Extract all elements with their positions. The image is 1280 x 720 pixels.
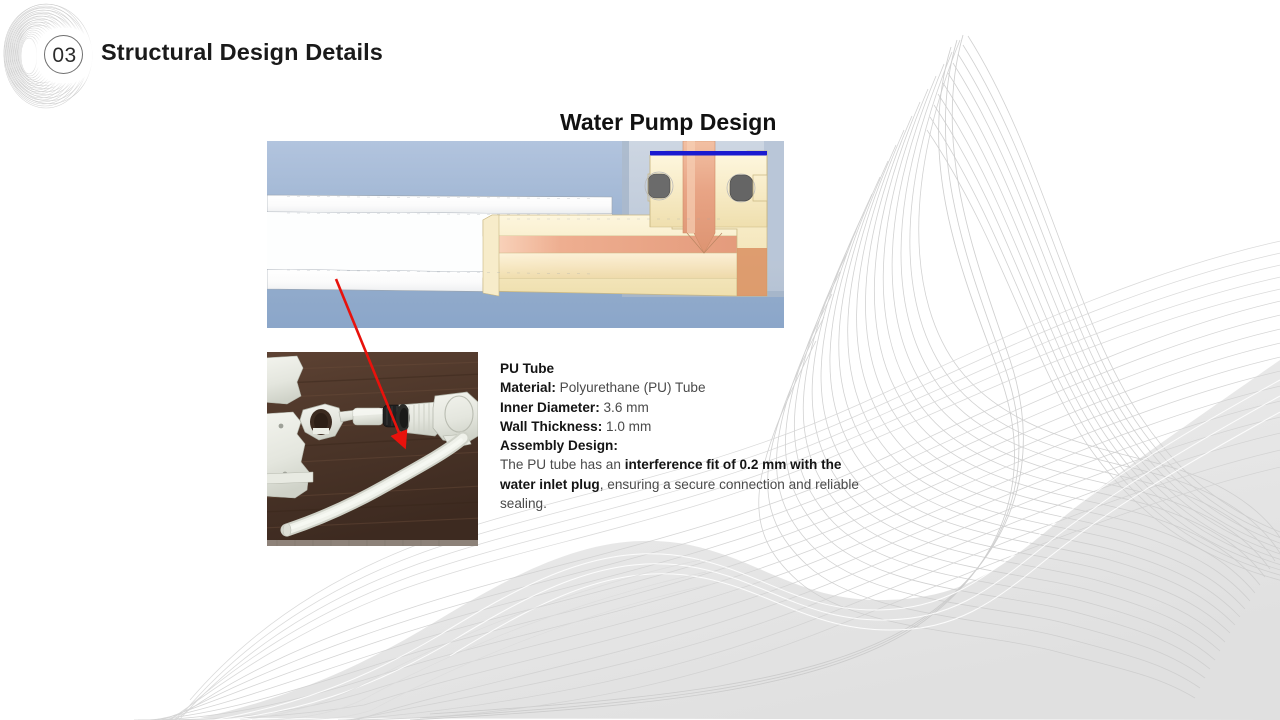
assembly-text-lead: The PU tube has an: [500, 457, 625, 472]
section-heading: Water Pump Design: [560, 109, 776, 136]
spec-row-wall-thickness: Wall Thickness: 1.0 mm: [500, 417, 875, 436]
step-number-badge: 03: [37, 28, 92, 83]
spec-value-wall-thickness: 1.0 mm: [602, 419, 651, 434]
spec-row-material: Material: Polyurethane (PU) Tube: [500, 378, 875, 397]
spec-label-wall-thickness: Wall Thickness:: [500, 419, 602, 434]
spec-text-block: PU Tube Material: Polyurethane (PU) Tube…: [500, 359, 875, 513]
spec-heading: PU Tube: [500, 359, 875, 378]
spec-label-material: Material:: [500, 380, 556, 395]
spec-value-material: Polyurethane (PU) Tube: [556, 380, 706, 395]
page-title: Structural Design Details: [101, 39, 383, 66]
spec-row-inner-diameter: Inner Diameter: 3.6 mm: [500, 398, 875, 417]
cad-render-image: [267, 141, 784, 328]
slide-canvas: 03 Structural Design Details Water Pump …: [0, 0, 1280, 720]
parts-photo-image: [267, 352, 478, 546]
spec-label-assembly-design: Assembly Design:: [500, 436, 875, 455]
slide-header: 03 Structural Design Details: [0, 0, 480, 112]
spec-assembly-paragraph: The PU tube has an interference fit of 0…: [500, 455, 865, 513]
spec-label-inner-diameter: Inner Diameter:: [500, 400, 600, 415]
step-number-label: 03: [37, 28, 92, 83]
spec-value-inner-diameter: 3.6 mm: [600, 400, 649, 415]
